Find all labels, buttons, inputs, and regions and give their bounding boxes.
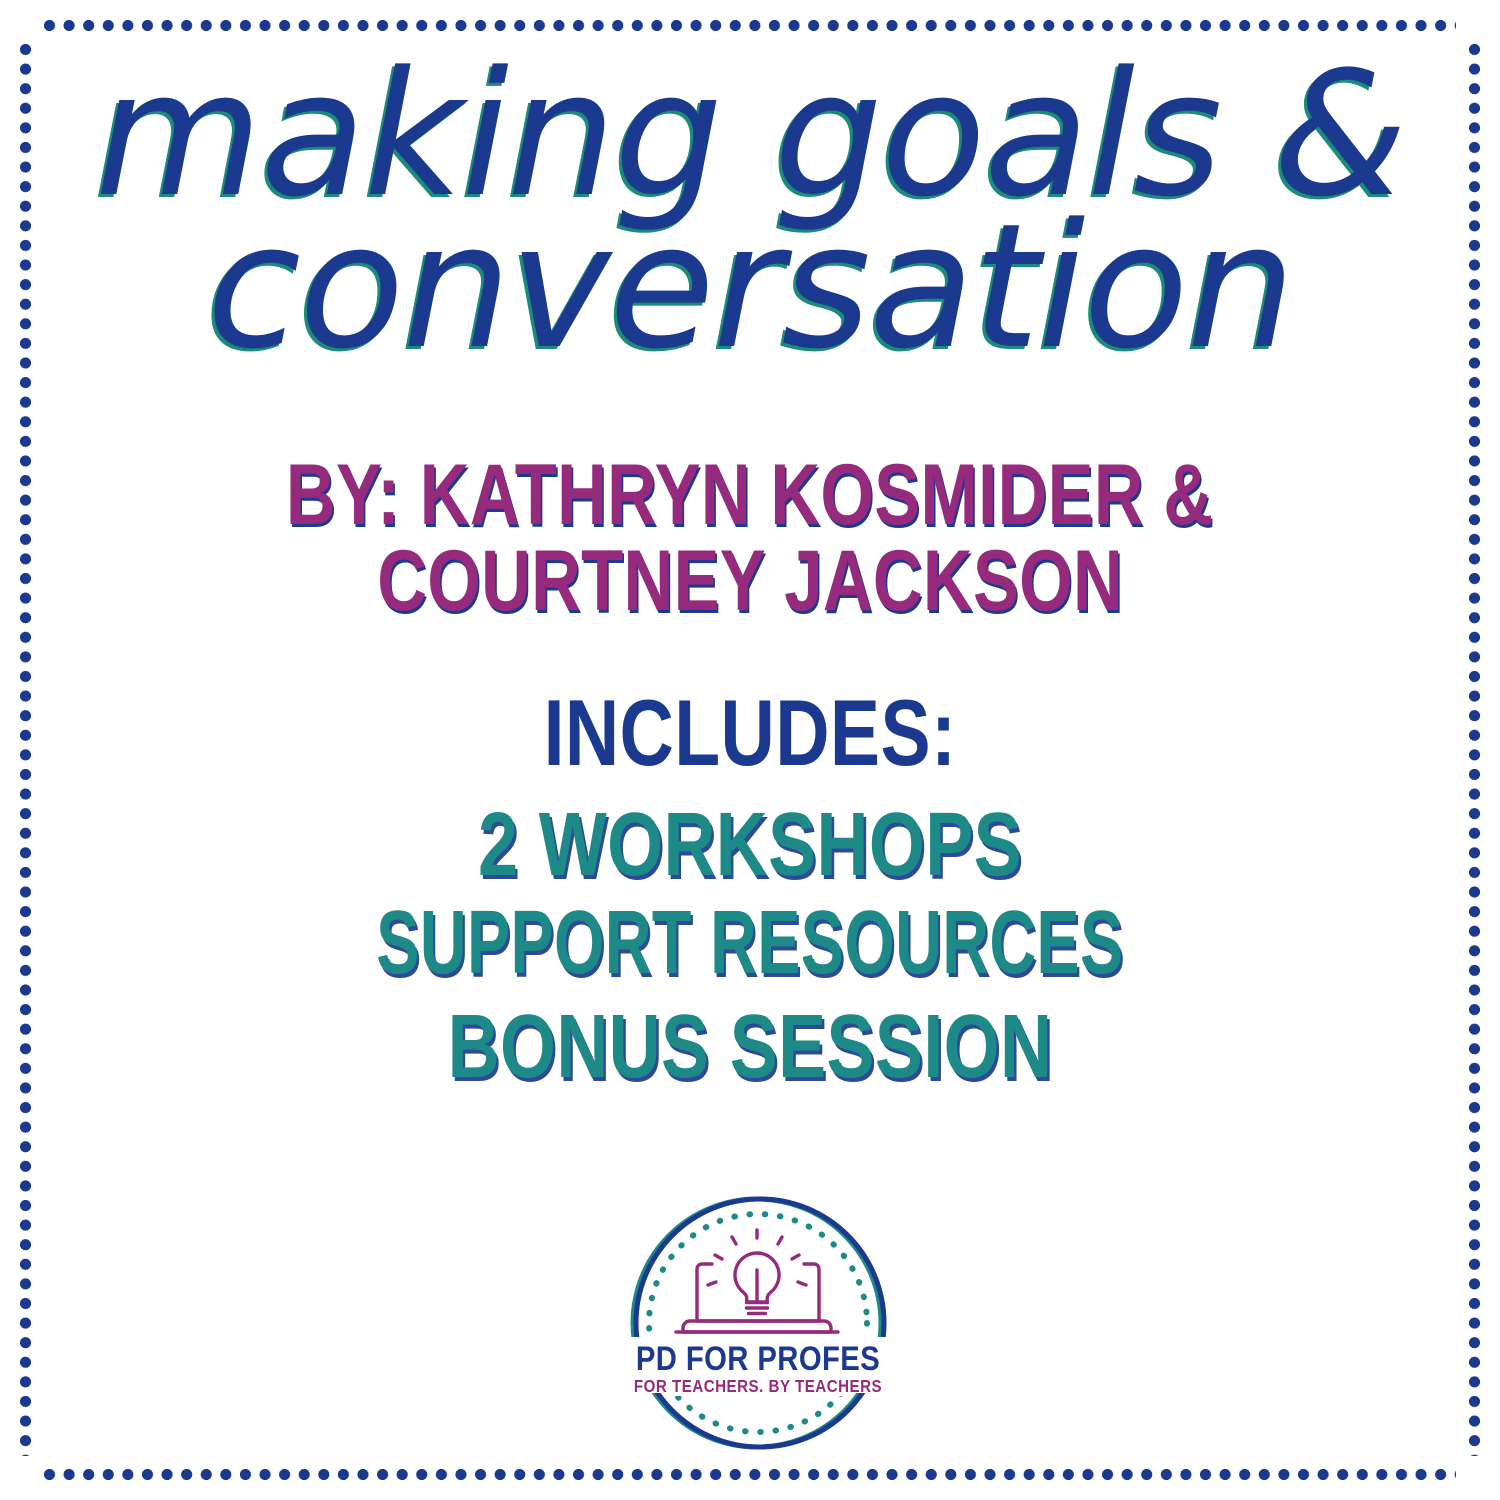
includes-item-3: BONUS SESSION <box>0 1002 1500 1092</box>
includes-item-2: SUPPORT RESOURCES <box>0 898 1500 988</box>
page-title: making goals & conversation <box>0 56 1500 366</box>
includes-item-1-text: 2 WORKSHOPS <box>478 800 1022 890</box>
byline-line-2: COURTNEY JACKSON <box>0 538 1500 624</box>
logo-tagline-text: FOR TEACHERS. BY TEACHERS <box>634 1376 882 1397</box>
poster-canvas: making goals & conversation BY: KATHRYN … <box>0 0 1500 1500</box>
laptop-lightbulb-icon <box>676 1230 838 1332</box>
includes-item-2-text: SUPPORT RESOURCES <box>376 898 1123 988</box>
border-dots-top <box>44 20 1456 31</box>
byline-line-2-text: COURTNEY JACKSON <box>377 538 1123 624</box>
byline-line-1-text: BY: KATHRYN KOSMIDER & <box>286 452 1213 538</box>
title-line-2: conversation <box>0 208 1500 366</box>
logo-brand-text: PD FOR PROFES <box>636 1339 880 1378</box>
logo-dotted-ring <box>649 1214 867 1432</box>
includes-item-3-text: BONUS SESSION <box>448 1002 1053 1092</box>
includes-item-1: 2 WORKSHOPS <box>0 800 1500 890</box>
includes-heading: INCLUDES: <box>0 686 1500 780</box>
byline-line-1: BY: KATHRYN KOSMIDER & <box>0 452 1500 538</box>
brand-logo: PD FOR PROFES FOR TEACHERS. BY TEACHERS <box>612 1194 902 1452</box>
border-dots-bottom <box>44 1469 1456 1480</box>
includes-heading-text: INCLUDES: <box>544 686 957 780</box>
